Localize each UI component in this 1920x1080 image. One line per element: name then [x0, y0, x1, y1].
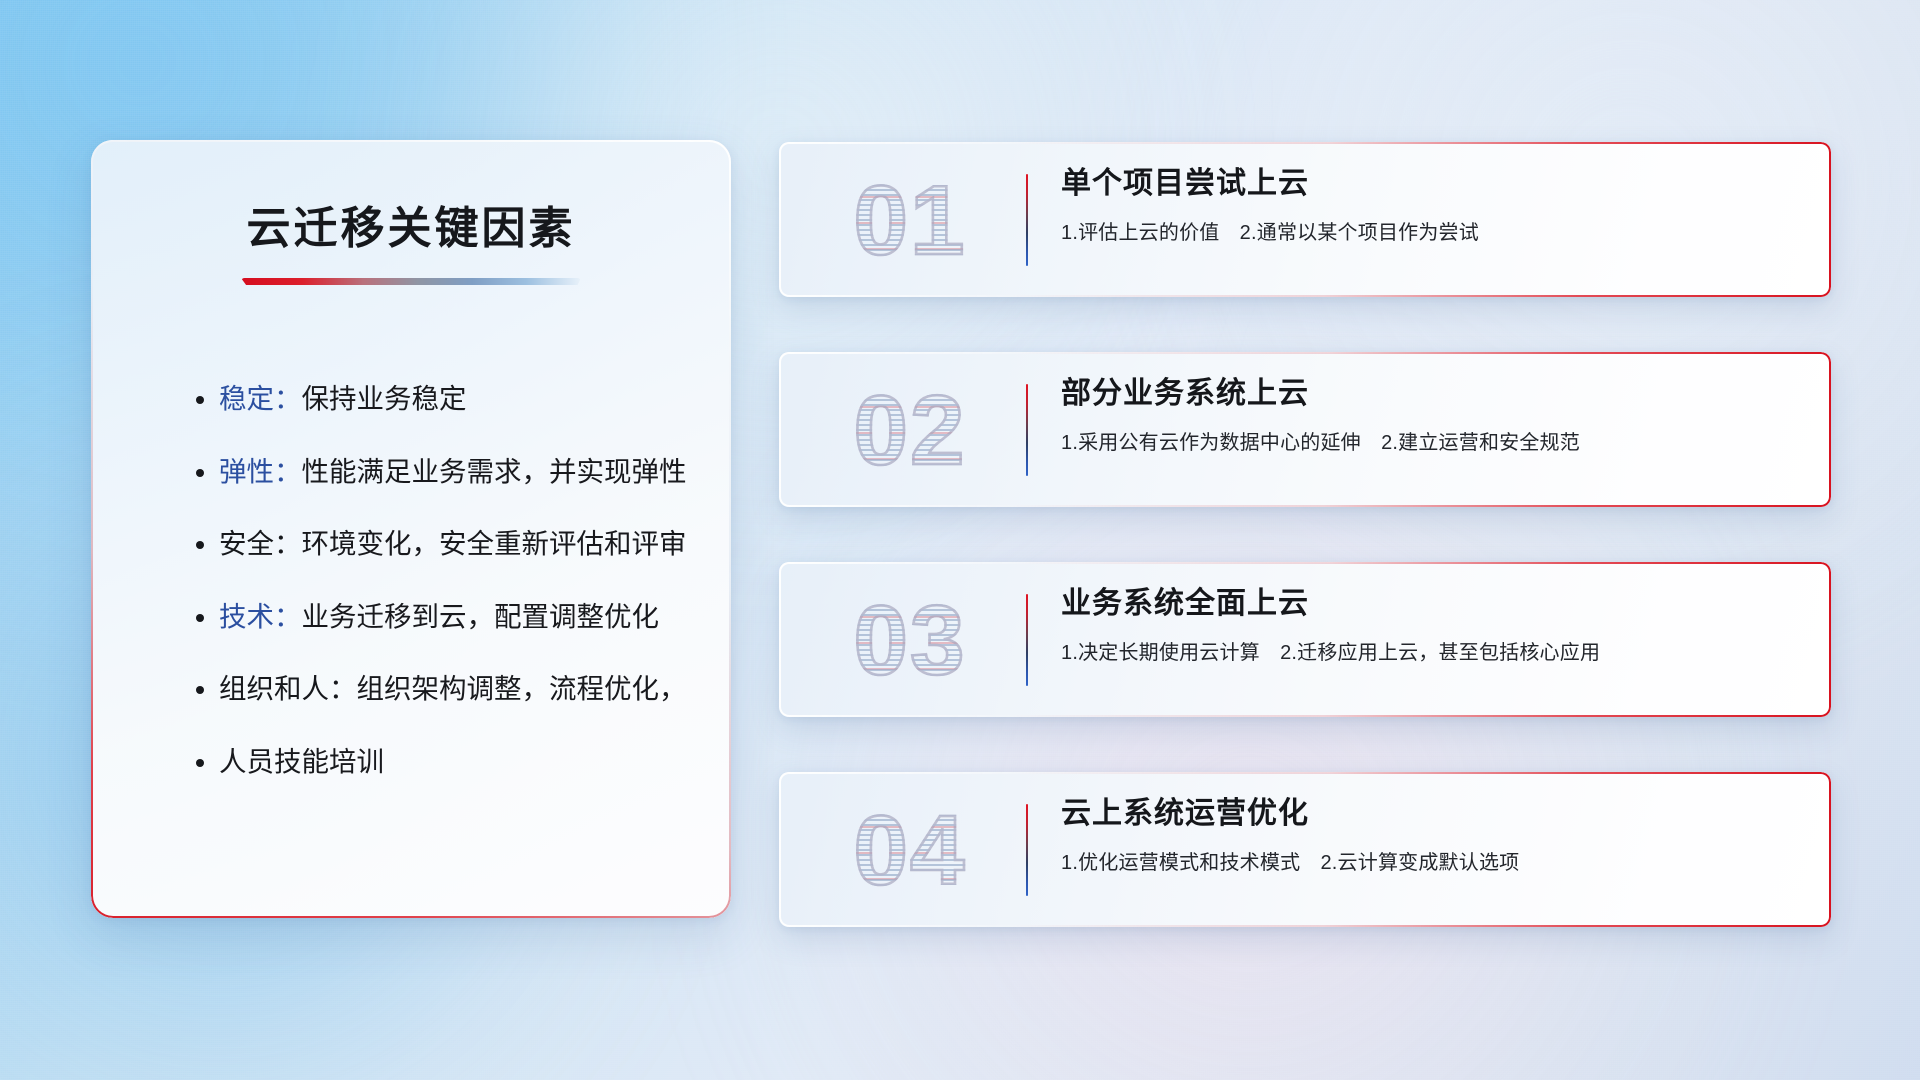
- stage-title-03: 业务系统全面上云: [1061, 584, 1807, 625]
- stage-divider-04: [1026, 804, 1028, 896]
- stage-card-03[interactable]: 03 03 业务系统全面上云 1.决定长期使用云计算 2.迁移应用上云，甚至包括…: [779, 562, 1831, 717]
- list-item-label: 技术：: [219, 601, 302, 632]
- list-item-label: 稳定：: [219, 383, 302, 414]
- page-title: 云迁移关键因素: [91, 192, 731, 256]
- list-item: 人员技能培训: [219, 748, 691, 776]
- stage-title-01: 单个项目尝试上云: [1061, 164, 1807, 205]
- list-item: 组织和人：组织架构调整，流程优化，: [219, 675, 691, 703]
- stage-card-01[interactable]: 01 01 单个项目尝试上云 1.评估上云的价值 2.通常以某个项目作为尝试: [779, 142, 1831, 297]
- list-item-value: 保持业务稳定: [302, 383, 467, 414]
- stage-points-01: 1.评估上云的价值 2.通常以某个项目作为尝试: [1061, 219, 1807, 247]
- slide-stage: 云迁移关键因素 稳定：保持业务稳定 弹性：性能满足业务需求，并实现弹性 安全：环…: [0, 0, 1920, 1080]
- list-item-value: 业务迁移到云，配置调整优化: [302, 601, 660, 632]
- list-item-label: 组织和人：: [219, 673, 357, 704]
- stage-divider-03: [1026, 594, 1028, 686]
- stage-card-02[interactable]: 02 02 部分业务系统上云 1.采用公有云作为数据中心的延伸 2.建立运营和安…: [779, 352, 1831, 507]
- list-item-value-continued: 人员技能培训: [219, 746, 384, 777]
- stage-number-03: 03: [815, 584, 1005, 696]
- stage-body-04: 云上系统运营优化 1.优化运营模式和技术模式 2.云计算变成默认选项: [1061, 794, 1807, 877]
- list-item: 安全：环境变化，安全重新评估和评审: [219, 530, 691, 558]
- list-item: 稳定：保持业务稳定: [219, 385, 691, 413]
- list-item-label: 安全：: [219, 528, 302, 559]
- list-item: 弹性：性能满足业务需求，并实现弹性: [219, 458, 691, 486]
- key-factors-list: 稳定：保持业务稳定 弹性：性能满足业务需求，并实现弹性 安全：环境变化，安全重新…: [219, 385, 691, 775]
- stage-divider-01: [1026, 174, 1028, 266]
- stage-number-01: 01: [815, 164, 1005, 276]
- stage-number-02: 02: [815, 374, 1005, 486]
- stage-points-03: 1.决定长期使用云计算 2.迁移应用上云，甚至包括核心应用: [1061, 639, 1807, 667]
- list-item-value: 性能满足业务需求，并实现弹性: [302, 456, 687, 487]
- list-item-value: 组织架构调整，流程优化，: [357, 673, 687, 704]
- stage-points-04: 1.优化运营模式和技术模式 2.云计算变成默认选项: [1061, 849, 1807, 877]
- stage-divider-02: [1026, 384, 1028, 476]
- stage-body-01: 单个项目尝试上云 1.评估上云的价值 2.通常以某个项目作为尝试: [1061, 164, 1807, 247]
- stage-points-02: 1.采用公有云作为数据中心的延伸 2.建立运营和安全规范: [1061, 429, 1807, 457]
- list-item: 技术：业务迁移到云，配置调整优化: [219, 603, 691, 631]
- key-factors-panel: 云迁移关键因素 稳定：保持业务稳定 弹性：性能满足业务需求，并实现弹性 安全：环…: [91, 140, 731, 918]
- list-item-label: 弹性：: [219, 456, 302, 487]
- stage-body-03: 业务系统全面上云 1.决定长期使用云计算 2.迁移应用上云，甚至包括核心应用: [1061, 584, 1807, 667]
- stage-number-04: 04: [815, 794, 1005, 906]
- stage-body-02: 部分业务系统上云 1.采用公有云作为数据中心的延伸 2.建立运营和安全规范: [1061, 374, 1807, 457]
- stage-card-04[interactable]: 04 04 云上系统运营优化 1.优化运营模式和技术模式 2.云计算变成默认选项: [779, 772, 1831, 927]
- title-underline-accent: [241, 278, 581, 285]
- list-item-value: 环境变化，安全重新评估和评审: [302, 528, 687, 559]
- stage-title-02: 部分业务系统上云: [1061, 374, 1807, 415]
- stage-title-04: 云上系统运营优化: [1061, 794, 1807, 835]
